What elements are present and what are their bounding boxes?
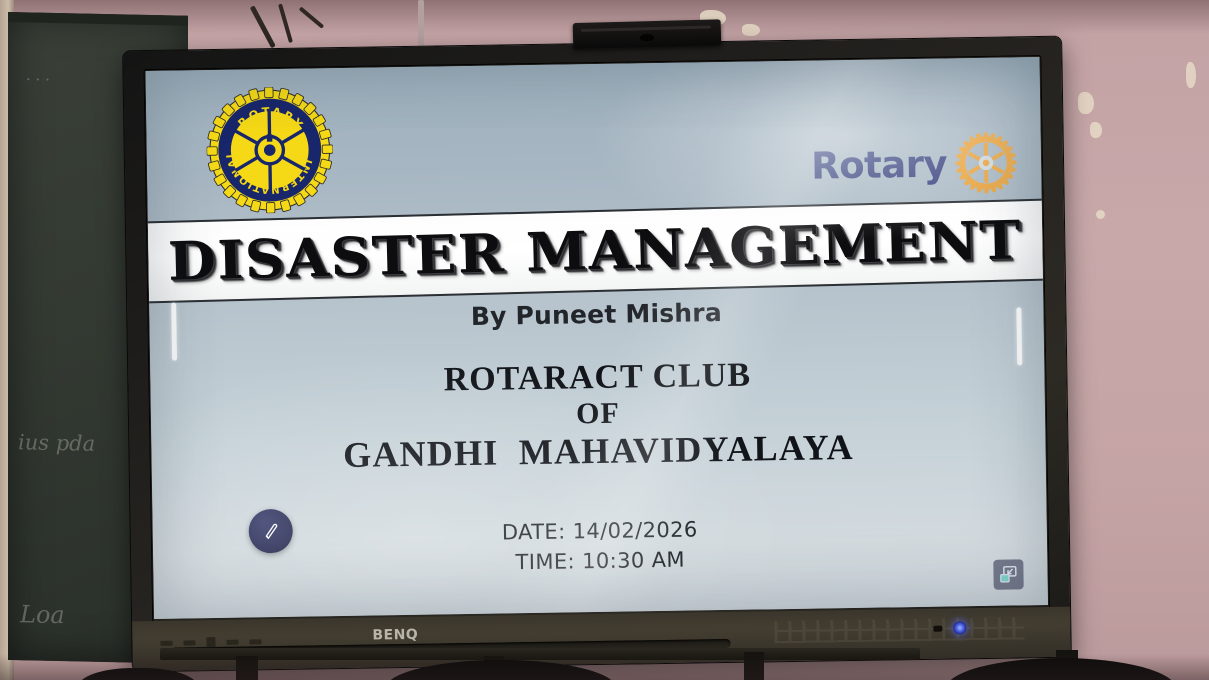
floor-shadow (0, 654, 1209, 680)
organization-block: ROTARACT CLUB OF GANDHI MAHAVIDYALAYA (150, 353, 1046, 479)
benq-logo-prefix: ben (372, 627, 406, 644)
pen-icon (261, 521, 281, 541)
screen-cast-button[interactable] (993, 559, 1023, 589)
rotary-wordmark: Rotary (811, 142, 948, 187)
bezel-port-markings (160, 636, 261, 649)
chalk-writing: · · · (26, 70, 50, 88)
wall-paint-fleck (1078, 92, 1094, 114)
ir-receiver (933, 626, 942, 632)
wall-paint-fleck (742, 24, 760, 36)
wall-paint-fleck (1096, 210, 1105, 219)
sidebar-handle-left[interactable] (171, 303, 177, 361)
sidebar-handle-right[interactable] (1016, 307, 1022, 365)
camera-lens-icon (640, 34, 654, 41)
classroom-scene: ius pda · · · Loa (0, 0, 1209, 680)
wall-paint-fleck (1186, 62, 1196, 88)
benq-logo: benQ (372, 627, 418, 644)
port-mark-hdmi (183, 640, 195, 645)
wall-paint-fleck (1090, 122, 1102, 138)
display-screen[interactable]: ROTARY INTERNATIONAL (146, 57, 1048, 619)
page-title: DISASTER MANAGEMENT (168, 214, 1023, 289)
port-mark-touch (226, 640, 238, 645)
camera-module (573, 19, 722, 49)
benq-logo-suffix: Q (406, 627, 419, 643)
rotary-international-emblem-icon: ROTARY INTERNATIONAL (206, 86, 334, 214)
presentation-slide: ROTARY INTERNATIONAL (146, 57, 1048, 619)
chalk-writing: ius pda (18, 430, 95, 456)
rotary-gear-icon (953, 129, 1020, 196)
camera-mount-slot (581, 26, 711, 32)
port-mark-usb-icon (206, 637, 215, 648)
port-mark-hdmi (160, 641, 172, 646)
interactive-display[interactable]: ROTARY INTERNATIONAL (123, 37, 1071, 672)
title-banner: DISASTER MANAGEMENT (146, 198, 1048, 303)
chalk-writing: Loa (20, 600, 65, 629)
rotary-brand-lockup: Rotary (811, 129, 1020, 198)
bezel-vent-grid (774, 617, 1024, 643)
screen-cast-icon (997, 563, 1019, 585)
port-mark-audio (249, 639, 261, 644)
